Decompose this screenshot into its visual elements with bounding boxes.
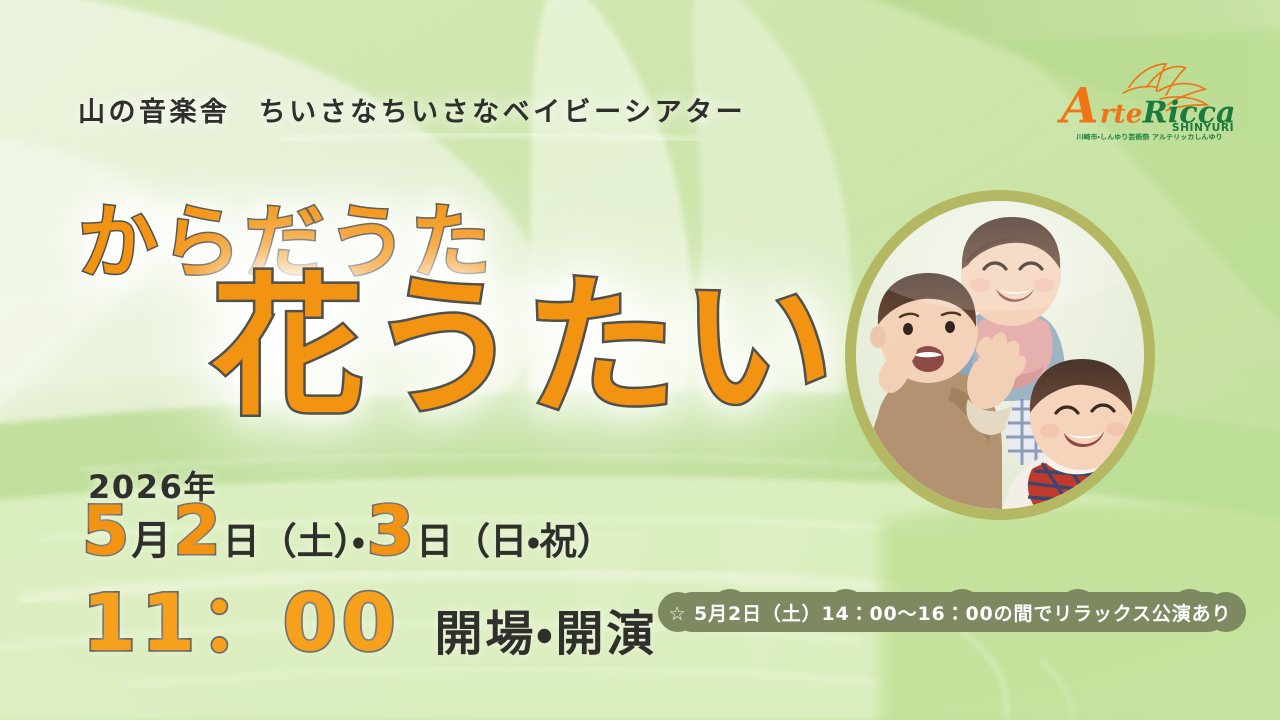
- date-month-number: 5: [82, 498, 129, 566]
- photo-circle-frame: [845, 190, 1155, 520]
- time-label: 開場・開演: [435, 610, 658, 658]
- producer-name: 山の音楽舎: [78, 97, 231, 128]
- date-day1-unit: 日（土）・: [221, 523, 367, 560]
- svg-text:A: A: [1057, 77, 1099, 134]
- baby-photo: [856, 201, 1144, 509]
- svg-text:rte: rte: [1100, 98, 1143, 129]
- event-time: 11：00 開場・開演: [82, 585, 657, 663]
- date-month-unit: 月: [129, 521, 173, 561]
- arte-ricca-logo[interactable]: A rte Ricca SHINYURI 川崎市・しんゆり芸術祭 アルテリッカし…: [1057, 58, 1242, 150]
- time-value: 11：00: [82, 585, 401, 663]
- event-date: 5 月 2 日（土）・ 3 日（日・祝）: [82, 498, 616, 566]
- series-name: ちいさなちいさなベイビーシアター: [259, 97, 747, 128]
- relax-performance-text: ☆ 5月2日（土）14：00〜16：00の間でリラックス公演あり: [648, 588, 1252, 636]
- event-subtitle: 山の音楽舎ちいさなちいさなベイビーシアター: [78, 90, 746, 129]
- arte-ricca-logo-mark: A rte Ricca SHINYURI: [1057, 58, 1242, 134]
- date-day2-number: 3: [367, 498, 414, 566]
- logo-caption: 川崎市・しんゆり芸術祭 アルテリッカしんゆり: [1057, 132, 1242, 141]
- relax-performance-banner: ☆ 5月2日（土）14：00〜16：00の間でリラックス公演あり: [648, 588, 1252, 636]
- date-day1-number: 2: [173, 498, 220, 566]
- main-title: 花うたい: [212, 272, 838, 424]
- poster-canvas: 山の音楽舎ちいさなちいさなベイビーシアター A rte Ricca SHINYU…: [0, 0, 1280, 720]
- date-day2-unit: 日（日・祝）: [414, 523, 616, 560]
- baby-photo-illustration: [856, 201, 1144, 509]
